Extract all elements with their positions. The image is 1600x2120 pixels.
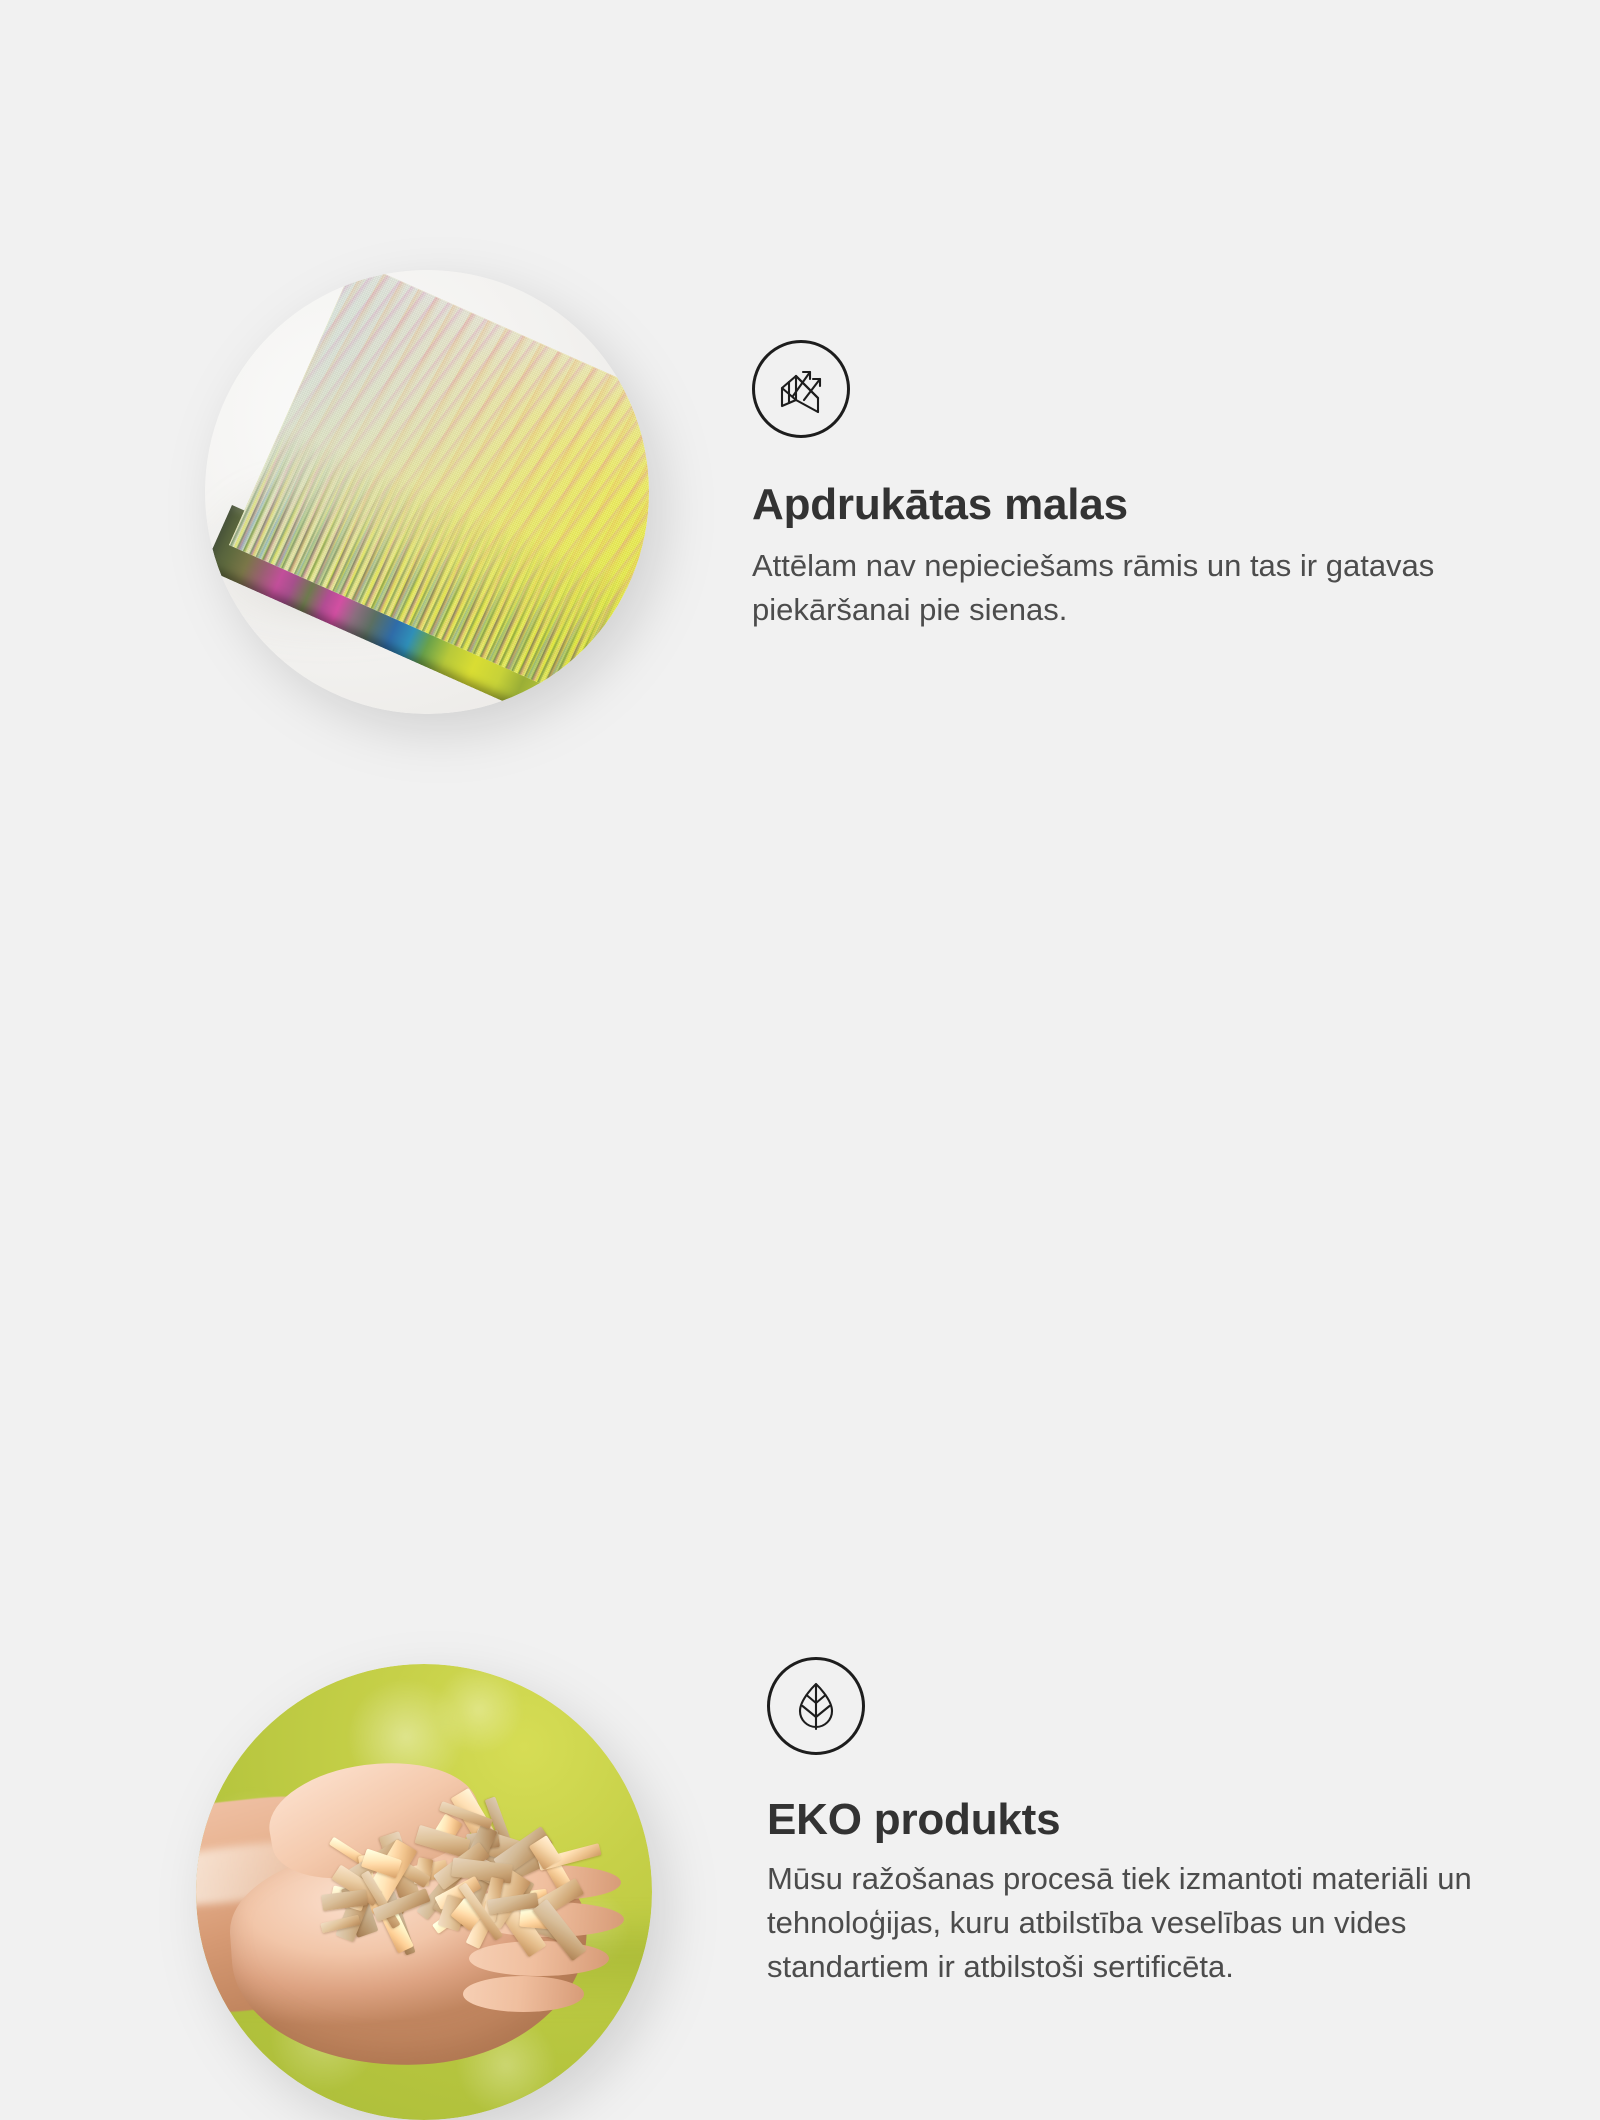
canvas-corner-illustration: [205, 270, 649, 714]
feature-text-eco-product: EKO produkts Mūsu ražošanas procesā tiek…: [767, 1657, 1477, 1989]
printed-edges-icon: [752, 340, 850, 438]
feature-text-printed-edges: Apdrukātas malas Attēlam nav nepieciešam…: [752, 340, 1452, 632]
feature-description: Mūsu ražošanas procesā tiek izmantoti ma…: [767, 1857, 1477, 1989]
feature-title: Apdrukātas malas: [752, 480, 1452, 530]
wood-chips-illustration: [196, 1664, 652, 2120]
wood-chips-in-hands-photo: [196, 1664, 652, 2120]
feature-block-eco-product: EKO produkts Mūsu ražošanas procesā tiek…: [0, 800, 1600, 1600]
feature-block-printed-edges: Apdrukātas malas Attēlam nav nepieciešam…: [0, 0, 1600, 800]
canvas-corner-photo: [205, 270, 649, 714]
product-features-page: Apdrukātas malas Attēlam nav nepieciešam…: [0, 0, 1600, 1600]
wood-chips-pile: [315, 1796, 579, 1965]
feature-description: Attēlam nav nepieciešams rāmis un tas ir…: [752, 544, 1442, 632]
feature-title: EKO produkts: [767, 1795, 1477, 1845]
leaf-icon: [767, 1657, 865, 1755]
